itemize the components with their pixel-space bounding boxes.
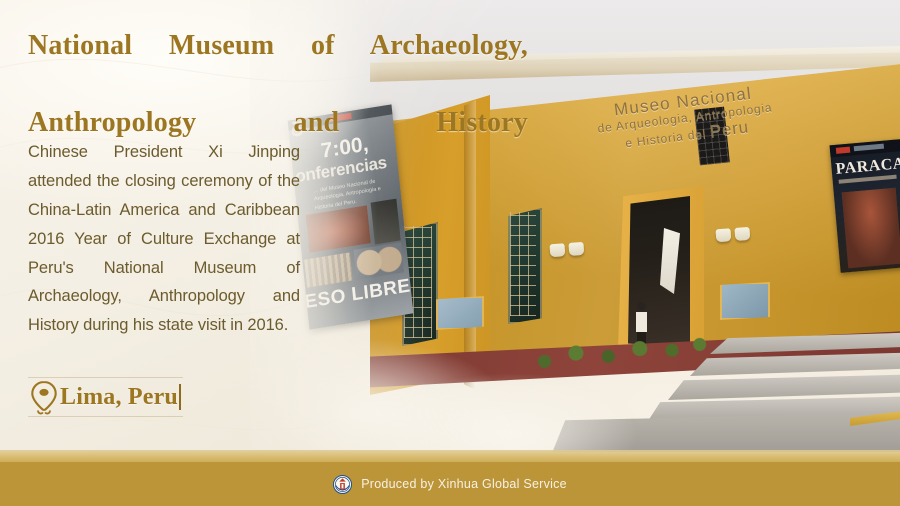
- wall-sconce-right: [715, 227, 752, 245]
- location-field-box[interactable]: Lima, Peru: [28, 377, 183, 417]
- wall-plaque-right: [720, 282, 770, 320]
- footer-credit: Produced by Xinhua Global Service: [361, 477, 567, 491]
- banner-textile-image: [842, 188, 900, 268]
- wall-sconce-left: [549, 242, 586, 260]
- banner-logo-mark: [836, 147, 850, 154]
- xinhua-logo: [333, 475, 352, 494]
- location-label: Lima, Peru: [60, 384, 178, 411]
- sidewalk: [550, 412, 900, 452]
- poster-artifact-photo-1: [306, 205, 371, 253]
- infographic-card: Museo Nacional de Arqueologia, Antropolo…: [0, 0, 900, 506]
- text-cursor: [179, 384, 181, 410]
- wall-plaque-left: [436, 296, 484, 330]
- footer-bar: Produced by Xinhua Global Service: [0, 462, 900, 506]
- poster-artifact-photo-2: [371, 199, 401, 245]
- paracas-banner: PARACAS: [830, 139, 900, 273]
- location-field[interactable]: Lima, Peru: [28, 378, 183, 416]
- poster-artifact-photo-3: [304, 253, 352, 288]
- gold-divider-strip: [0, 450, 900, 462]
- map-pin-icon: [28, 379, 60, 415]
- step-3: [668, 374, 900, 400]
- body-paragraph: Chinese President Xi Jinping attended th…: [28, 138, 300, 340]
- page-title-line-1: National Museum of Archaeology,: [28, 27, 528, 104]
- window-grille-right: [510, 212, 536, 316]
- museum-sign-line-3-b: Peru: [709, 118, 750, 142]
- poster-artifact-photo-4: [353, 242, 404, 279]
